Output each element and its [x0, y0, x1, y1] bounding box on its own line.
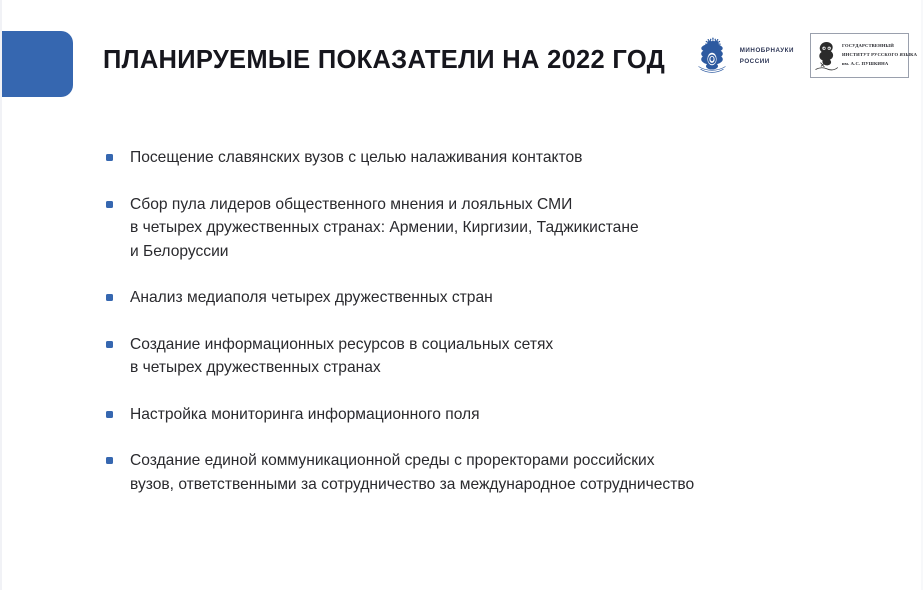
list-item-text: Создание информационных ресурсов в социа… — [130, 333, 553, 380]
bullet-square-icon — [106, 201, 113, 208]
pushkin-logo-line2: ИНСТИТУТ РУССКОГО ЯЗЫКА — [842, 52, 917, 57]
list-item-text: Создание единой коммуникационной среды с… — [130, 449, 694, 496]
list-item: Сбор пула лидеров общественного мнения и… — [106, 193, 896, 264]
planned-indicators-list: Посещение славянских вузов с целью налаж… — [106, 146, 896, 519]
pushkin-institute-emblem-icon — [814, 39, 839, 72]
page-title: ПЛАНИРУЕМЫЕ ПОКАЗАТЕЛИ НА 2022 ГОД — [103, 46, 665, 75]
presentation-slide: ПЛАНИРУЕМЫЕ ПОКАЗАТЕЛИ НА 2022 ГОД — [0, 0, 923, 590]
list-item: Посещение славянских вузов с целью налаж… — [106, 146, 896, 170]
logo-row: МИНОБРНАУКИ РОССИИ — [691, 33, 909, 78]
ministry-logo-caption: МИНОБРНАУКИ РОССИИ — [740, 44, 794, 68]
list-item: Настройка мониторинга информационного по… — [106, 403, 896, 427]
bullet-square-icon — [106, 457, 113, 464]
blue-accent-block — [0, 31, 73, 97]
list-item-text: Настройка мониторинга информационного по… — [130, 403, 480, 427]
list-item: Анализ медиаполя четырех дружественных с… — [106, 286, 896, 310]
pushkin-logo-line1: ГОСУДАРСТВЕННЫЙ — [842, 43, 894, 48]
bullet-square-icon — [106, 341, 113, 348]
pushkin-institute-logo: ГОСУДАРСТВЕННЫЙ ИНСТИТУТ РУССКОГО ЯЗЫКА … — [810, 33, 909, 78]
ministry-of-science-logo: МИНОБРНАУКИ РОССИИ — [691, 33, 794, 78]
list-item-text: Анализ медиаполя четырех дружественных с… — [130, 286, 493, 310]
bullet-square-icon — [106, 294, 113, 301]
list-item-text: Сбор пула лидеров общественного мнения и… — [130, 193, 639, 264]
list-item: Создание единой коммуникационной среды с… — [106, 449, 896, 496]
bullet-square-icon — [106, 411, 113, 418]
list-item-text: Посещение славянских вузов с целью налаж… — [130, 146, 582, 170]
list-item: Создание информационных ресурсов в социа… — [106, 333, 896, 380]
russia-coat-of-arms-eagle-icon — [691, 33, 733, 78]
ministry-logo-line1: МИНОБРНАУКИ — [740, 47, 794, 54]
ministry-logo-line2: РОССИИ — [740, 58, 770, 65]
pushkin-logo-line3: им. А.С. ПУШКИНА — [842, 61, 888, 66]
pushkin-logo-caption: ГОСУДАРСТВЕННЫЙ ИНСТИТУТ РУССКОГО ЯЗЫКА … — [842, 42, 917, 69]
bullet-square-icon — [106, 154, 113, 161]
